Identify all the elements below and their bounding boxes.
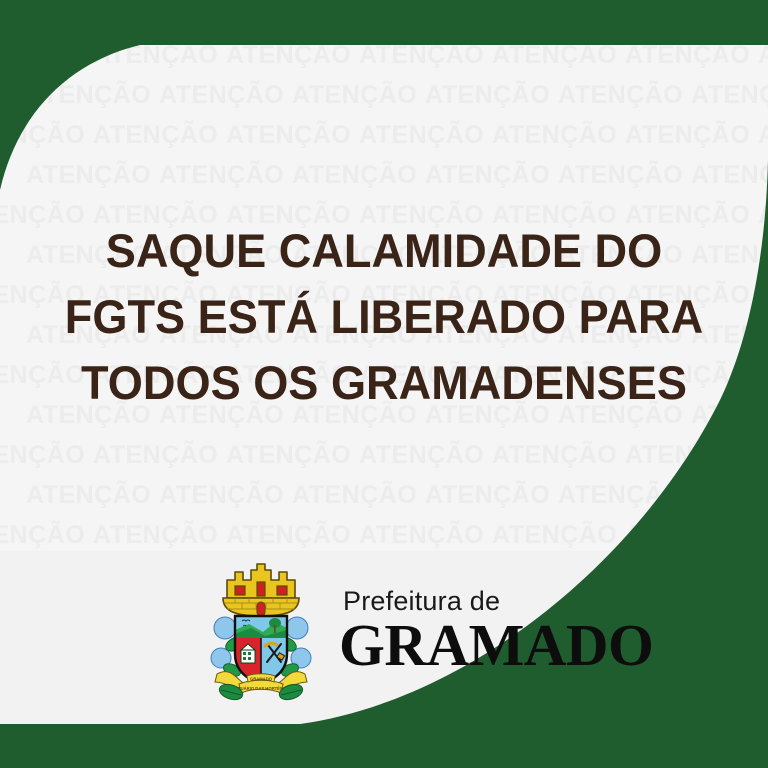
watermark-text: ATENÇÃO xyxy=(93,115,226,155)
watermark-text: ATENÇÃO xyxy=(0,45,93,75)
watermark-text: ATENÇÃO xyxy=(26,475,159,515)
watermark-text: ATENÇÃO xyxy=(292,75,425,115)
watermark-text: ATENÇÃO xyxy=(625,515,758,551)
watermark-row: ATENÇÃOATENÇÃOATENÇÃOATENÇÃOATENÇÃOATENÇ… xyxy=(0,75,768,115)
watermark-text: ATENÇÃO xyxy=(226,515,359,551)
watermark-text: ATENÇÃO xyxy=(359,435,492,475)
gramado-coat-of-arms-icon: GRAMADO SANTUÁRIO DAS HORTÊNSIAS xyxy=(205,558,317,704)
watermark-row: ATENÇÃOATENÇÃOATENÇÃOATENÇÃOATENÇÃOATENÇ… xyxy=(0,115,768,155)
watermark-text: ATENÇÃO xyxy=(359,45,492,75)
watermark-text: ATENÇÃO xyxy=(159,155,292,195)
watermark-text: ATENÇÃO xyxy=(226,115,359,155)
watermark-text: ATENÇÃO xyxy=(159,475,292,515)
watermark-text: ATENÇÃO xyxy=(425,75,558,115)
watermark-text: ATENÇÃO xyxy=(93,515,226,551)
headline-line-3: TODOS OS GRAMADENSES xyxy=(15,350,752,416)
watermark-row: ATENÇÃOATENÇÃOATENÇÃOATENÇÃOATENÇÃOATENÇ… xyxy=(0,45,768,75)
watermark-text: ATENÇÃO xyxy=(492,45,625,75)
watermark-text: ATENÇÃO xyxy=(93,45,226,75)
watermark-text: ATENÇÃO xyxy=(159,75,292,115)
watermark-text: ATENÇÃO xyxy=(691,475,768,515)
watermark-text: ATENÇÃO xyxy=(558,475,691,515)
prefeitura-label: Prefeitura de xyxy=(343,587,653,615)
watermark-text: ATENÇÃO xyxy=(292,155,425,195)
watermark-text: ATENÇÃO xyxy=(758,115,768,155)
watermark-row: ATENÇÃOATENÇÃOATENÇÃOATENÇÃOATENÇÃOATENÇ… xyxy=(0,435,768,475)
watermark-text: ATENÇÃO xyxy=(758,195,768,235)
svg-text:GRAMADO: GRAMADO xyxy=(250,677,273,682)
watermark-text: ATENÇÃO xyxy=(292,475,425,515)
watermark-text: ATENÇÃO xyxy=(558,155,691,195)
watermark-text: ATENÇÃO xyxy=(625,435,758,475)
watermark-text: ATENÇÃO xyxy=(26,75,159,115)
headline-line-1: SAQUE CALAMIDADE DO xyxy=(15,218,752,284)
watermark-text: ATENÇÃO xyxy=(226,45,359,75)
watermark-text: ATENÇÃO xyxy=(558,75,691,115)
watermark-text: ATENÇÃO xyxy=(758,435,768,475)
watermark-text: ATENÇÃO xyxy=(0,515,93,551)
watermark-text: ATENÇÃO xyxy=(492,435,625,475)
watermark-text: ATENÇÃO xyxy=(492,115,625,155)
watermark-text: ATENÇÃO xyxy=(758,275,768,315)
mural-crown xyxy=(223,564,299,616)
watermark-text: ATENÇÃO xyxy=(0,435,93,475)
brand-lockup: GRAMADO SANTUÁRIO DAS HORTÊNSIAS Prefeit… xyxy=(205,556,625,706)
watermark-text: ATENÇÃO xyxy=(625,115,758,155)
bottom-green-bar xyxy=(0,724,768,768)
poster-canvas: ATENÇÃOATENÇÃOATENÇÃOATENÇÃOATENÇÃOATENÇ… xyxy=(0,0,768,768)
watermark-text: ATENÇÃO xyxy=(758,355,768,395)
watermark-text: ATENÇÃO xyxy=(226,435,359,475)
watermark-text: ATENÇÃO xyxy=(359,515,492,551)
watermark-row: ATENÇÃOATENÇÃOATENÇÃOATENÇÃOATENÇÃOATENÇ… xyxy=(0,515,768,551)
watermark-text: ATENÇÃO xyxy=(691,155,768,195)
watermark-text: ATENÇÃO xyxy=(0,115,93,155)
city-label: GRAMADO xyxy=(339,615,653,675)
watermark-row: ATENÇÃOATENÇÃOATENÇÃOATENÇÃOATENÇÃOATENÇ… xyxy=(0,155,768,195)
watermark-text: ATENÇÃO xyxy=(359,115,492,155)
watermark-text: ATENÇÃO xyxy=(425,475,558,515)
watermark-text: ATENÇÃO xyxy=(93,435,226,475)
watermark-text: ATENÇÃO xyxy=(758,515,768,551)
headline-line-2: FGTS ESTÁ LIBERADO PARA xyxy=(15,284,752,350)
watermark-text: ATENÇÃO xyxy=(691,75,768,115)
watermark-row: ATENÇÃOATENÇÃOATENÇÃOATENÇÃOATENÇÃOATENÇ… xyxy=(0,475,768,515)
motto-ribbon: GRAMADO SANTUÁRIO DAS HORTÊNSIAS xyxy=(215,672,307,703)
page-title: SAQUE CALAMIDADE DO FGTS ESTÁ LIBERADO P… xyxy=(15,218,752,416)
watermark-text: ATENÇÃO xyxy=(425,155,558,195)
watermark-text: ATENÇÃO xyxy=(758,45,768,75)
brand-text: Prefeitura de GRAMADO xyxy=(339,587,653,676)
watermark-text: ATENÇÃO xyxy=(625,45,758,75)
watermark-text: ATENÇÃO xyxy=(26,155,159,195)
watermark-text: ATENÇÃO xyxy=(492,515,625,551)
